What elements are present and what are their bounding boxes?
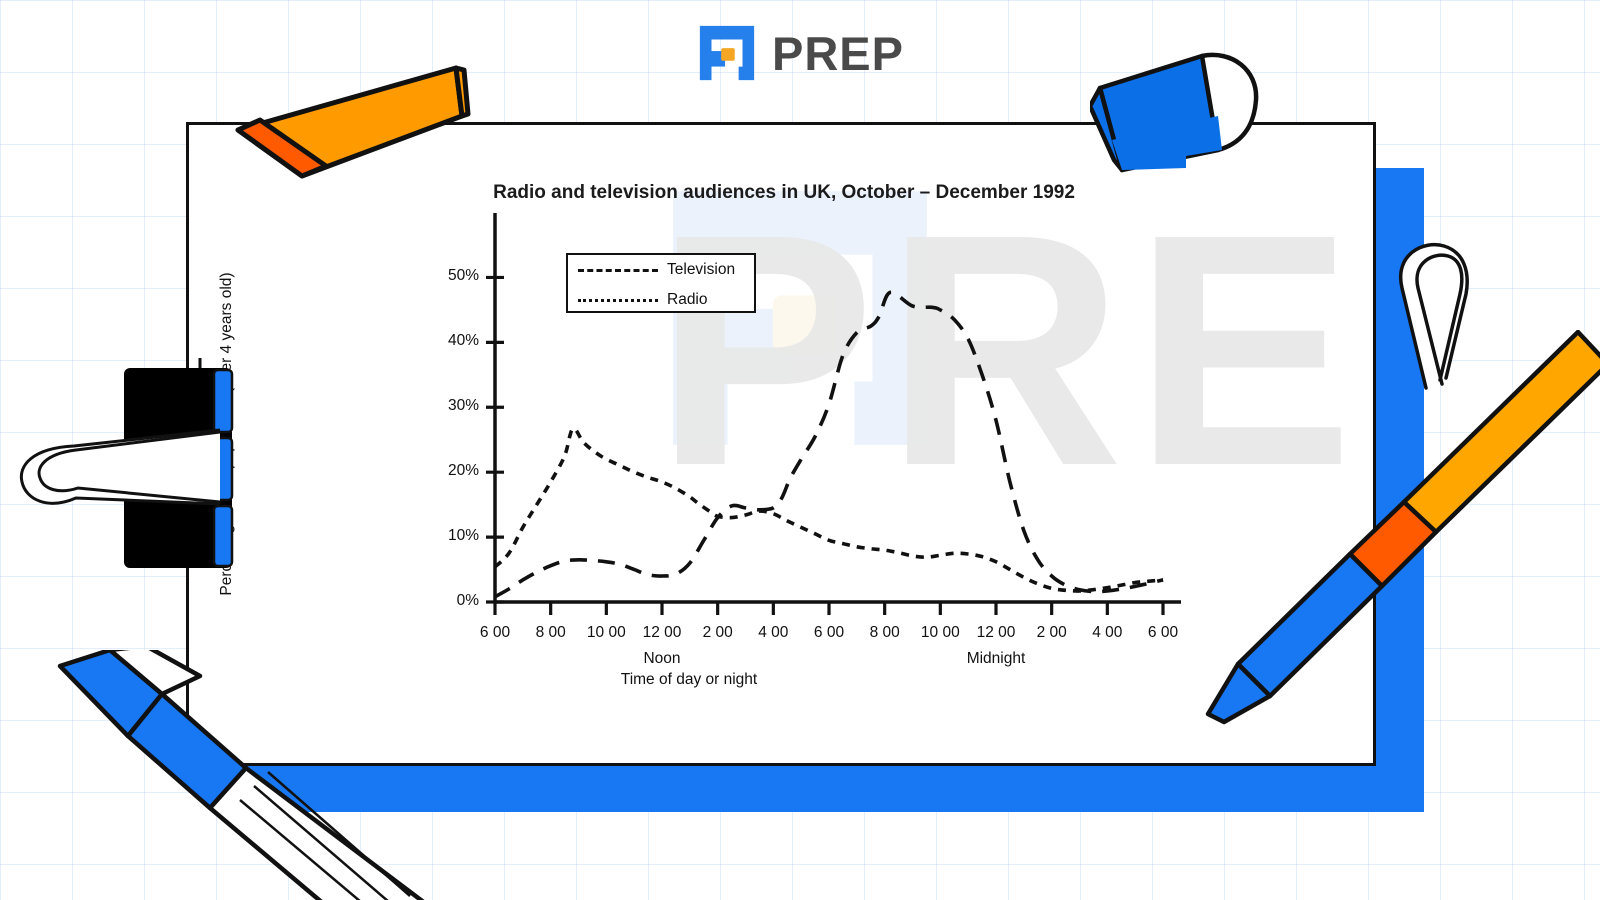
x-tick-label: 2 00 (1037, 624, 1067, 642)
x-tick-label: 6 00 (480, 624, 510, 642)
x-tick-label: 6 00 (1148, 624, 1178, 642)
x-tick-sublabel: Noon (643, 650, 680, 668)
y-tick-label: 40% (421, 332, 479, 350)
series-line-radio (495, 428, 1163, 591)
x-tick-label: 10 00 (587, 624, 626, 642)
y-tick-label: 50% (421, 267, 479, 285)
y-tick-label: 0% (421, 592, 479, 610)
y-tick-label: 30% (421, 397, 479, 415)
chart-series-group (495, 292, 1163, 597)
series-line-television (495, 292, 1163, 597)
y-tick-label: 20% (421, 462, 479, 480)
y-tick-label: 10% (421, 527, 479, 545)
x-tick-sublabel: Midnight (967, 650, 1026, 668)
blue-pen-icon (50, 650, 610, 900)
legend-label-television: Television (667, 261, 735, 279)
x-tick-label: 2 00 (703, 624, 733, 642)
x-tick-label: 10 00 (921, 624, 960, 642)
legend-item-radio: Radio (568, 285, 754, 315)
legend-key-radio-icon (578, 299, 658, 302)
x-tick-label: 8 00 (870, 624, 900, 642)
page-canvas: PREP PREP Radio and television audiences… (0, 0, 1600, 900)
legend-key-television-icon (578, 269, 658, 272)
brand-header: PREP (0, 22, 1600, 84)
chart-legend: Television Radio (566, 253, 756, 313)
x-tick-label: 4 00 (1092, 624, 1122, 642)
x-tick-label: 12 00 (643, 624, 682, 642)
legend-label-radio: Radio (667, 291, 708, 309)
legend-item-television: Television (568, 255, 754, 285)
x-tick-label: 6 00 (814, 624, 844, 642)
x-tick-label: 8 00 (536, 624, 566, 642)
x-tick-label: 4 00 (758, 624, 788, 642)
x-tick-label: 12 00 (977, 624, 1016, 642)
brand-name: PREP (772, 26, 904, 81)
prep-logo-icon (696, 22, 758, 84)
orange-pen-icon (1190, 330, 1600, 730)
binder-clip-icon (14, 358, 246, 576)
